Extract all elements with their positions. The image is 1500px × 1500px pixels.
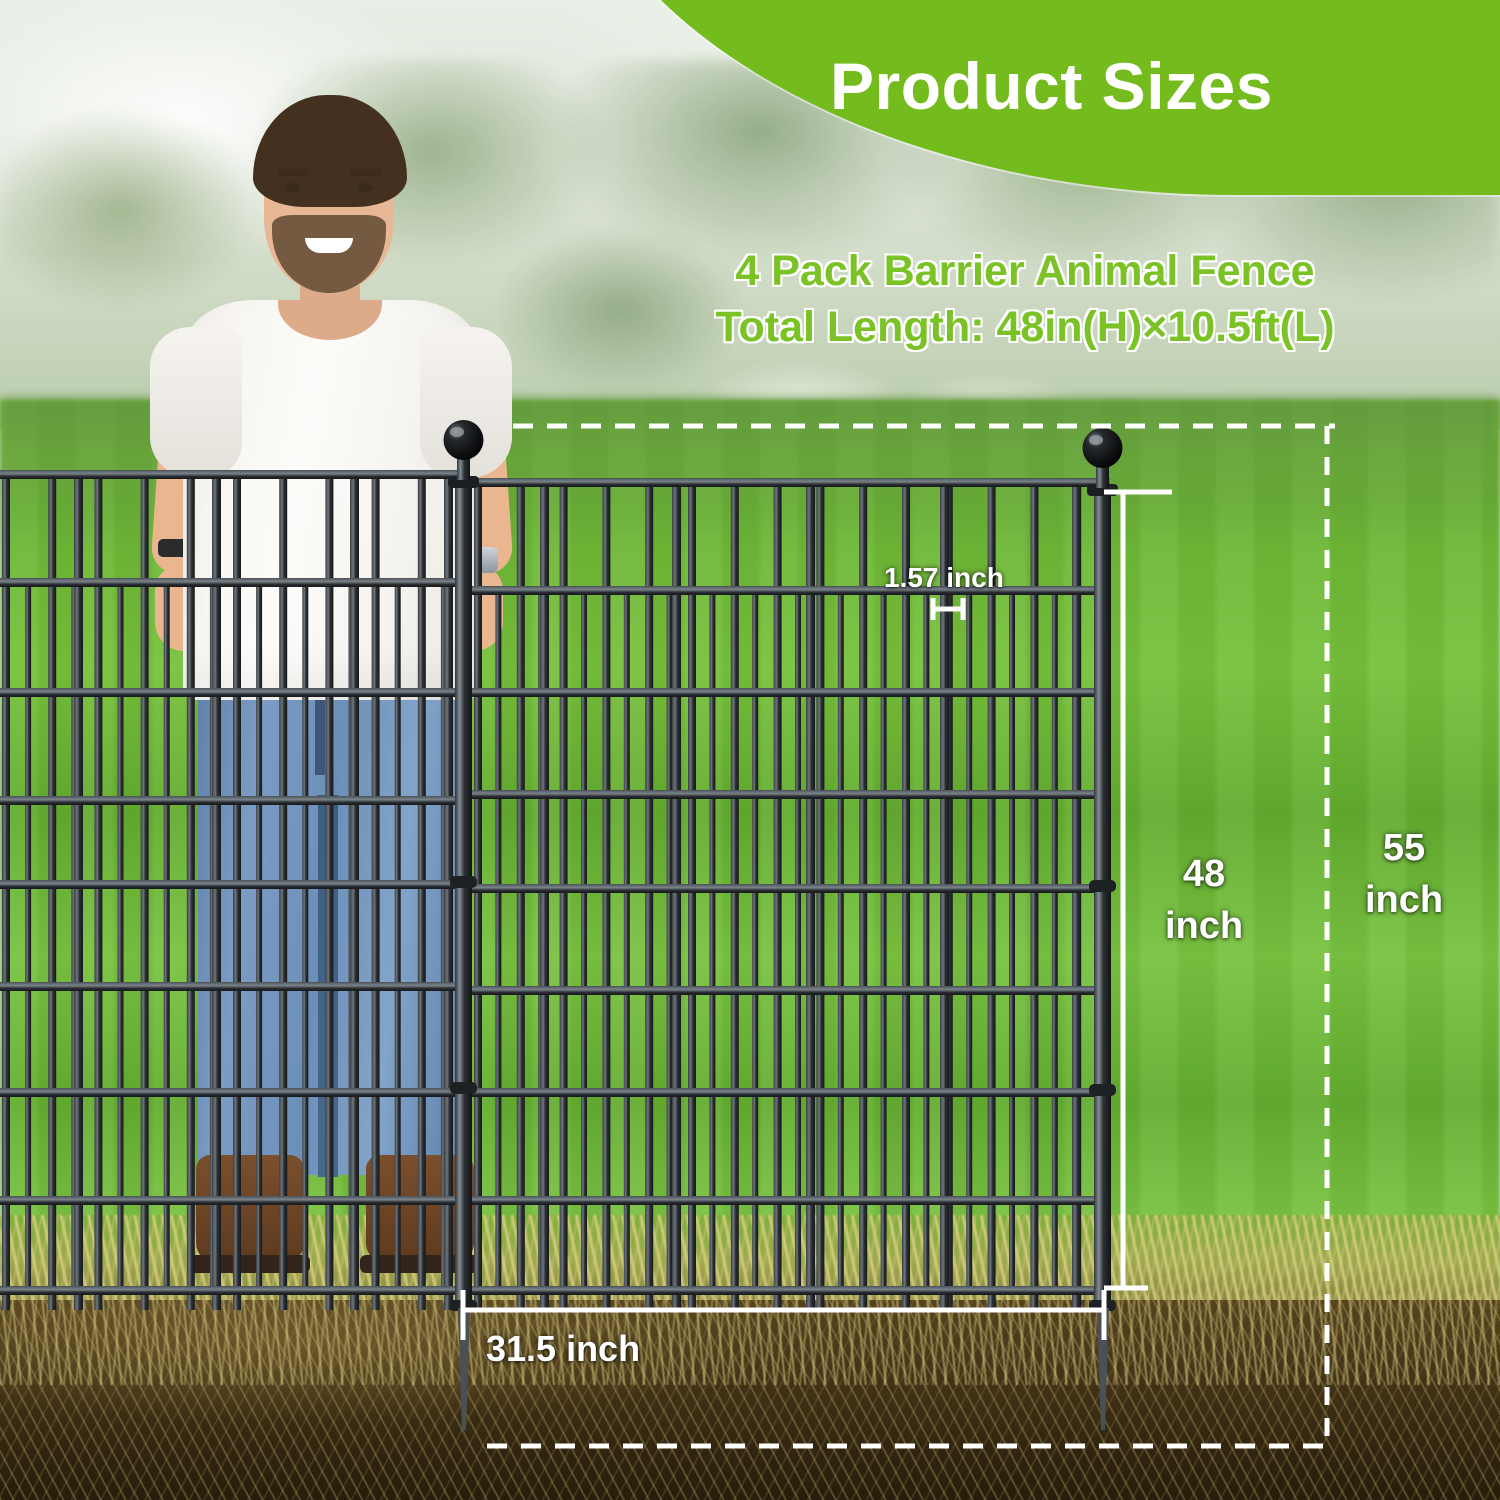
fence-bar: [774, 478, 782, 1310]
fence-bar: [187, 470, 195, 1310]
product-size-infographic: Product Sizes 4 Pack Barrier Animal Fenc…: [0, 0, 1500, 1500]
fence-bar: [560, 478, 568, 1310]
fence-panel-right-bars: [474, 478, 1101, 1310]
subtitle-line-1: 4 Pack Barrier Animal Fence: [560, 243, 1490, 299]
subtitle-line-2: Total Length: 48in(H)×10.5ft(L): [560, 299, 1490, 355]
fence-bar: [731, 478, 739, 1310]
label-above-ground-height: 48inch: [1150, 848, 1258, 952]
fence-bar: [25, 578, 31, 1292]
fence-bar: [645, 478, 653, 1310]
fence-bar: [517, 478, 525, 1310]
fence-bar: [688, 478, 696, 1310]
lbl-48-part: 48: [1150, 848, 1258, 900]
lbl-55-part: inch: [1348, 874, 1460, 926]
fence-bar: [118, 578, 124, 1292]
fence-bar: [48, 470, 56, 1310]
fence-bar: [372, 470, 380, 1310]
fence-bar: [806, 478, 815, 1310]
fence-bar: [540, 478, 549, 1310]
fence-bar: [325, 470, 333, 1310]
fence-bar: [74, 470, 83, 1310]
label-total-height: 55inch: [1348, 822, 1460, 926]
fence-bar: [233, 470, 241, 1310]
lbl-55-part: 55: [1348, 822, 1460, 874]
fence-bar: [672, 478, 681, 1310]
fence-bar: [602, 478, 610, 1310]
fence-assembly: [0, 0, 1500, 1500]
fence-bar: [94, 470, 102, 1310]
fence-panel-left-bars: [2, 470, 453, 1310]
fence-bar: [256, 578, 262, 1292]
fence-bar: [1072, 478, 1081, 1310]
fence-bar: [444, 470, 453, 1310]
lbl-48-part: inch: [1150, 900, 1258, 952]
fence-bar: [395, 578, 401, 1292]
fence-bar: [302, 578, 308, 1292]
fence-bar: [350, 470, 359, 1310]
fence-bar: [816, 478, 824, 1310]
fence-bar: [988, 478, 996, 1310]
fence-bar: [141, 470, 149, 1310]
fence-panel-left-rails: [0, 470, 462, 1295]
label-panel-width: 31.5 inch: [486, 1328, 640, 1370]
product-subtitle: 4 Pack Barrier Animal Fence Total Length…: [560, 243, 1490, 355]
fence-bar: [474, 478, 482, 1310]
fence-bar: [940, 478, 949, 1310]
label-bar-spacing: 1.57 inch: [884, 562, 1004, 594]
fence-bar: [1030, 478, 1038, 1310]
fence-bar: [212, 470, 221, 1310]
fence-bar: [418, 470, 426, 1310]
fence-bar: [164, 578, 170, 1292]
fence-bar: [279, 470, 287, 1310]
page-title: Product Sizes: [830, 38, 1490, 134]
fence-bar: [902, 478, 910, 1310]
fence-post-right: [1083, 428, 1123, 1430]
fence-bar: [2, 470, 10, 1310]
fence-bar: [859, 478, 867, 1310]
